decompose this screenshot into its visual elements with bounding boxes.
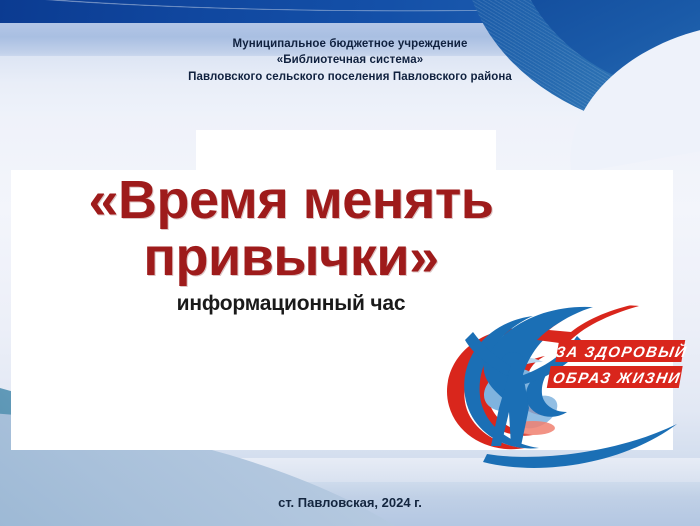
header-line-3: Павловского сельского поселения Павловск… — [0, 69, 700, 85]
header-line-1: Муниципальное бюджетное учреждение — [0, 36, 700, 52]
footer-location-year: ст. Павловская, 2024 г. — [278, 495, 422, 510]
header-line-2: «Библиотечная система» — [0, 52, 700, 68]
organization-header: Муниципальное бюджетное учреждение «Библ… — [0, 36, 700, 85]
title-line-1: «Время менять — [11, 172, 571, 229]
logo-text-line-2-label: ОБРАЗ ЖИЗНИ — [539, 368, 695, 390]
title-line-2: привычки» — [11, 229, 571, 286]
healthy-lifestyle-logo: ЗА ЗДОРОВЫЙ ОБРАЗ ЖИЗНИ — [425, 296, 695, 476]
slide-footer: ст. Павловская, 2024 г. — [0, 494, 700, 512]
presentation-slide: Муниципальное бюджетное учреждение «Библ… — [0, 0, 700, 526]
logo-text-line-1-label: ЗА ЗДОРОВЫЙ — [543, 342, 699, 364]
title-block: «Время менять привычки» информационный ч… — [11, 172, 571, 316]
